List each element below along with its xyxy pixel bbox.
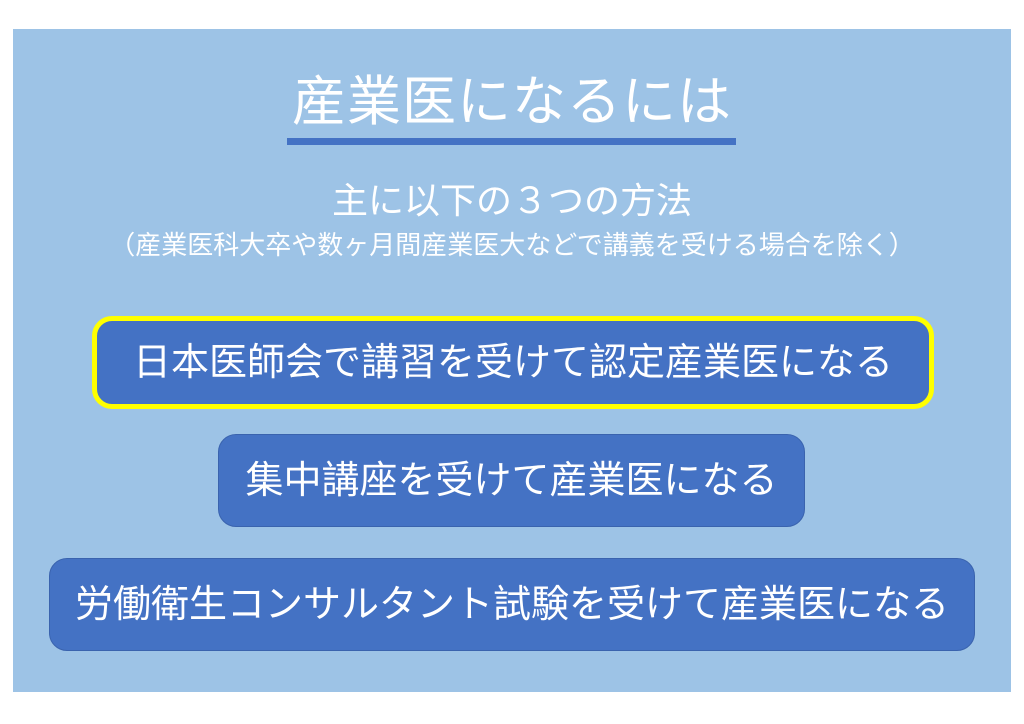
slide-root: 産業医になるには 主に以下の３つの方法 （産業医科大卒や数ヶ月間産業医大などで講…	[0, 0, 1024, 724]
title-block: 産業医になるには	[13, 74, 1011, 131]
option-box-3-label: 労働衛生コンサルタント試験を受けて産業医になる	[75, 586, 949, 624]
subtitle-note: （産業医科大卒や数ヶ月間産業医大などで講義を受ける場合を除く）	[13, 231, 1011, 260]
slide-content-panel: 産業医になるには 主に以下の３つの方法 （産業医科大卒や数ヶ月間産業医大などで講…	[13, 29, 1011, 692]
option-box-1[interactable]: 日本医師会で講習を受けて認定産業医になる	[92, 316, 934, 409]
option-box-2-label: 集中講座を受けて産業医になる	[245, 462, 777, 500]
option-box-3[interactable]: 労働衛生コンサルタント試験を受けて産業医になる	[49, 558, 975, 651]
subtitle: 主に以下の３つの方法	[13, 181, 1011, 221]
title-underline-rule	[287, 138, 736, 145]
page-title: 産業医になるには	[292, 74, 732, 131]
option-box-1-label: 日本医師会で講習を受けて認定産業医になる	[133, 344, 893, 382]
option-box-2[interactable]: 集中講座を受けて産業医になる	[218, 434, 805, 527]
